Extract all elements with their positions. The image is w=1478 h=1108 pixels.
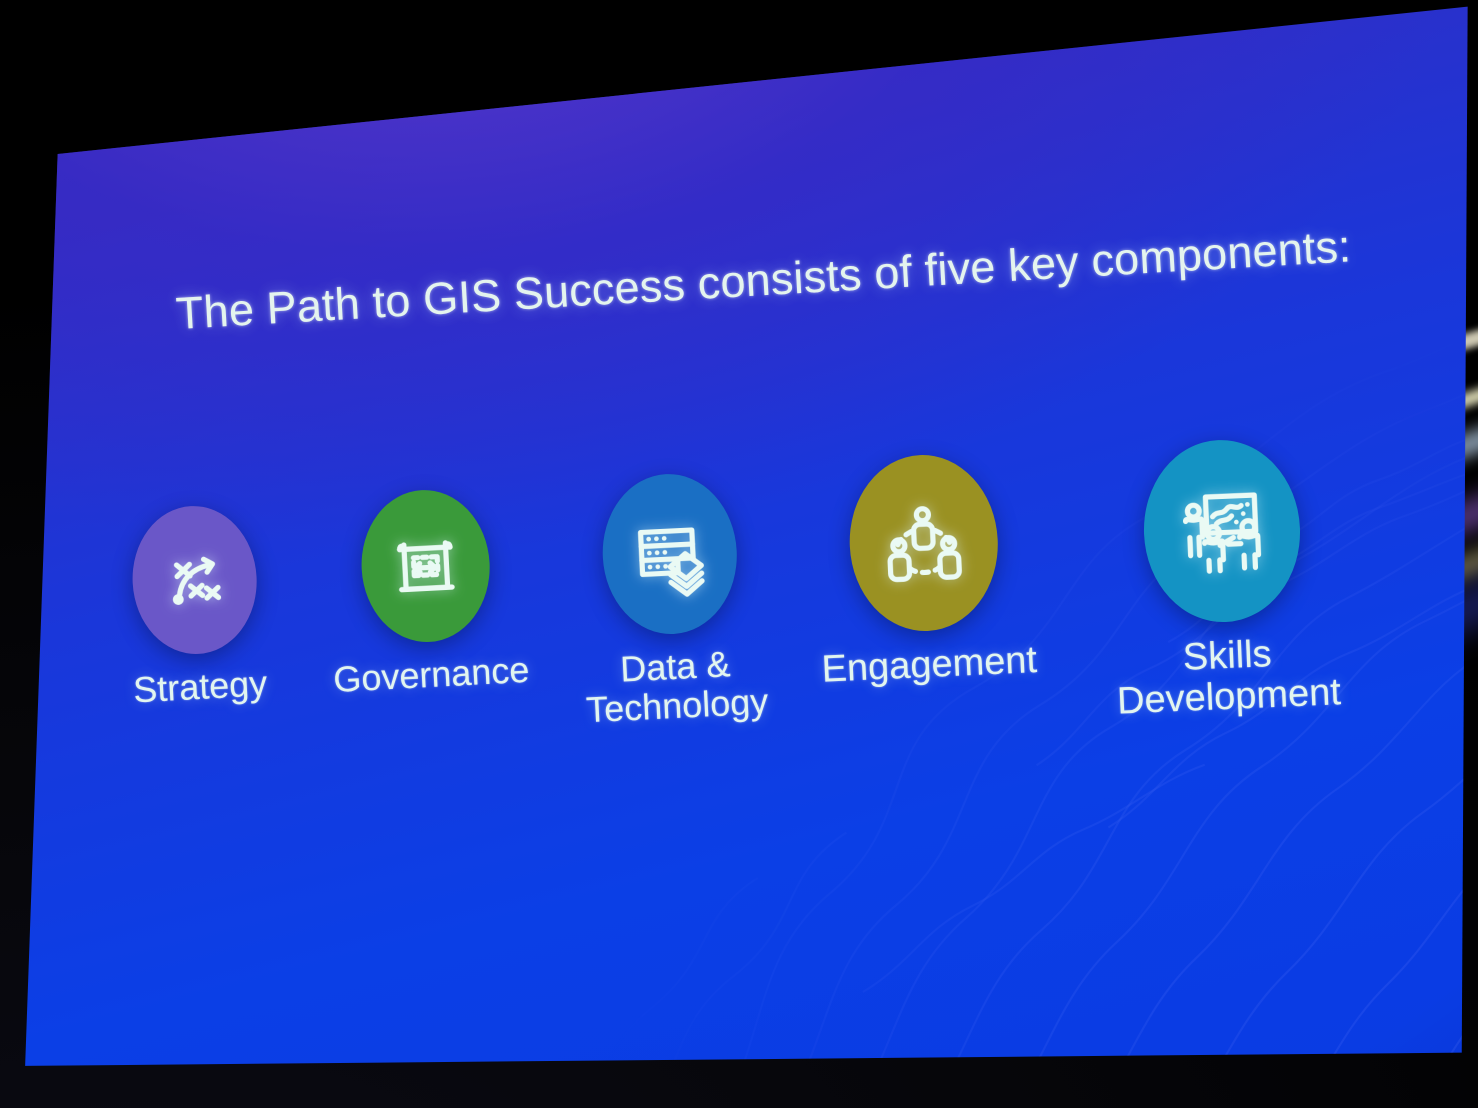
component-label: Engagement: [815, 640, 1043, 691]
components-row: Strategy Governance: [0, 0, 1478, 1108]
data-technology-badge[interactable]: [599, 471, 741, 637]
component-label: Skills Development: [1112, 631, 1343, 723]
component-label: Data & Technology: [568, 643, 784, 731]
strategy-badge[interactable]: [129, 503, 261, 657]
strategy-playbook-icon: [156, 535, 232, 624]
component-governance[interactable]: Governance: [318, 485, 536, 700]
people-network-icon: [879, 490, 969, 596]
component-label: Strategy: [95, 662, 305, 712]
component-label: Governance: [326, 650, 536, 700]
training-presentation-icon: [1175, 476, 1270, 585]
blueprint-plan-icon: [386, 520, 465, 612]
component-data-technology[interactable]: Data & Technology: [560, 469, 784, 731]
server-layers-icon: [629, 506, 711, 602]
skills-development-badge[interactable]: [1140, 437, 1303, 625]
component-strategy[interactable]: Strategy: [87, 501, 305, 712]
slide-content: The Path to GIS Success consists of five…: [0, 0, 1478, 1108]
component-engagement[interactable]: Engagement: [807, 450, 1043, 691]
slide-photo: The Path to GIS Success consists of five…: [0, 0, 1478, 1108]
component-skills-development[interactable]: Skills Development: [1104, 435, 1343, 722]
governance-badge[interactable]: [358, 487, 494, 645]
engagement-badge[interactable]: [846, 452, 1002, 635]
